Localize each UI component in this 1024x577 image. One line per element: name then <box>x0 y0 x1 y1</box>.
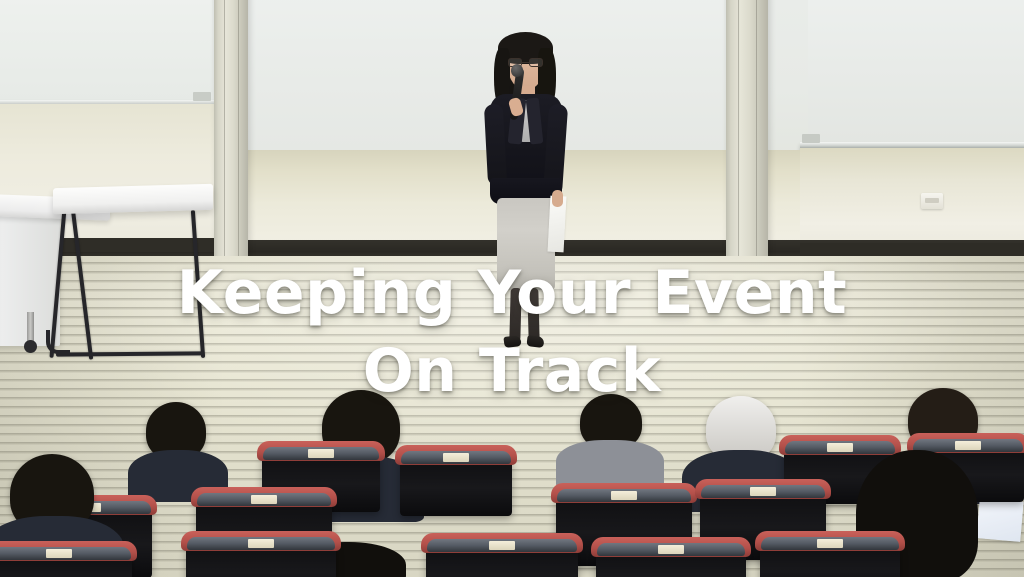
audience-handout <box>976 498 1023 542</box>
pillar-seam-icon <box>756 0 757 258</box>
auditorium-seat <box>426 542 578 577</box>
wall-outlet-icon <box>921 193 943 209</box>
whiteboard-right <box>808 0 1024 142</box>
audience-seating <box>0 392 1024 577</box>
stage-photo <box>0 0 1024 577</box>
auditorium-seat <box>400 454 512 516</box>
pillar-seam-icon <box>738 0 739 258</box>
whiteboard-left-clip <box>193 92 211 101</box>
speaker-skirt <box>497 198 555 290</box>
pillar-right <box>726 0 768 258</box>
audience-member-body <box>556 440 664 488</box>
speaker-leg <box>509 288 521 342</box>
speaker-shoe <box>526 335 544 348</box>
cart-stem-icon <box>27 312 34 342</box>
auditorium-seat <box>596 546 746 577</box>
speaker-hand <box>552 190 563 207</box>
pillar-seam-icon <box>224 0 225 265</box>
speaker-leg <box>527 288 539 342</box>
pillar-seam-icon <box>238 0 239 265</box>
whiteboard-right-clip <box>802 134 820 143</box>
whiteboard-left <box>0 0 212 104</box>
table-leg-curve <box>46 330 70 354</box>
speaker-figure <box>470 28 580 348</box>
auditorium-seat <box>0 550 132 577</box>
folding-table-front <box>53 184 213 214</box>
auditorium-seat <box>760 540 900 577</box>
cart-caster-icon <box>24 340 37 353</box>
hero-banner: Keeping Your Event On Track <box>0 0 1024 577</box>
auditorium-seat <box>186 540 336 577</box>
speaker-shoe <box>503 335 521 348</box>
pillar-left <box>214 0 248 265</box>
